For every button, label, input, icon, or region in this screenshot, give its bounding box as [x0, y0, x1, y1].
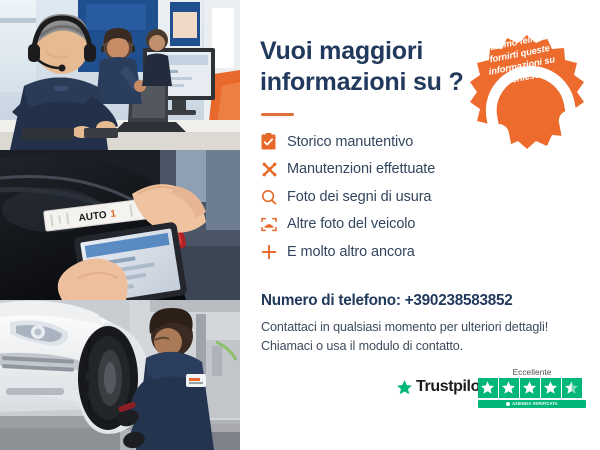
- feature-item-foto-usura: Foto dei segni di usura: [261, 183, 561, 211]
- verified-business-badge: AZIENDA VERIFICATA: [478, 400, 586, 408]
- phone-label: Numero di telefono:: [261, 292, 405, 309]
- plus-icon: [261, 244, 287, 260]
- phone-number[interactable]: +390238583852: [405, 292, 513, 309]
- feature-label: Storico manutentivo: [287, 134, 413, 150]
- feature-item-altre-foto: Altre foto del veicolo: [261, 211, 561, 239]
- info-panel: Vuoi maggiori informazioni su ? Saremo f…: [240, 0, 600, 450]
- feature-label: Manutenzioni effettuate: [287, 161, 435, 177]
- trustpilot-star-icon: [396, 379, 413, 396]
- trustpilot-widget[interactable]: Trustpilot Eccellente: [396, 368, 586, 414]
- mechanic-wheel-photo: [0, 300, 240, 450]
- clipboard-check-icon: [261, 133, 287, 150]
- call-center-agents-photo: [0, 0, 240, 150]
- contact-line-2: Chiamaci o usa il modulo di contatto.: [261, 337, 591, 356]
- feature-item-altro: E molto altro ancora: [261, 238, 561, 266]
- star-filled-2: [499, 378, 519, 398]
- feature-label: Altre foto del veicolo: [287, 216, 415, 232]
- feature-label: E molto altro ancora: [287, 244, 415, 260]
- photo-strip: AUTO 1: [0, 0, 240, 450]
- star-filled-1: [478, 378, 498, 398]
- phone-line: Numero di telefono: +390238583852: [261, 292, 513, 310]
- trustpilot-rating-block: Eccellente: [478, 368, 586, 408]
- magnifier-icon: [261, 189, 287, 205]
- car-inspection-tablet-photo: AUTO 1: [0, 150, 240, 300]
- contact-line-1: Contattaci in qualsiasi momento per ulte…: [261, 318, 591, 337]
- advertisement-card: AUTO 1: [0, 0, 600, 450]
- star-filled-3: [520, 378, 540, 398]
- wrench-cross-icon: [261, 161, 287, 178]
- feature-list: Storico manutentivo Manutenzi: [261, 128, 561, 266]
- star-half-5: [562, 378, 582, 398]
- star-filled-4: [541, 378, 561, 398]
- trustpilot-logo: Trustpilot: [396, 378, 485, 396]
- contact-text: Contattaci in qualsiasi momento per ulte…: [261, 318, 591, 356]
- trustpilot-rating-label: Eccellente: [478, 368, 586, 377]
- page-title: Vuoi maggiori informazioni su ?: [260, 36, 475, 97]
- trustpilot-wordmark: Trustpilot: [416, 378, 485, 396]
- title-underline-divider: [261, 113, 294, 116]
- trustpilot-stars: [478, 378, 586, 398]
- feature-label: Foto dei segni di usura: [287, 189, 431, 205]
- feature-item-storico: Storico manutentivo: [261, 128, 561, 156]
- camera-frame-icon: [261, 217, 287, 232]
- verified-label: AZIENDA VERIFICATA: [512, 401, 558, 406]
- feature-item-manutenzioni: Manutenzioni effettuate: [261, 156, 561, 184]
- check-icon: [506, 402, 510, 406]
